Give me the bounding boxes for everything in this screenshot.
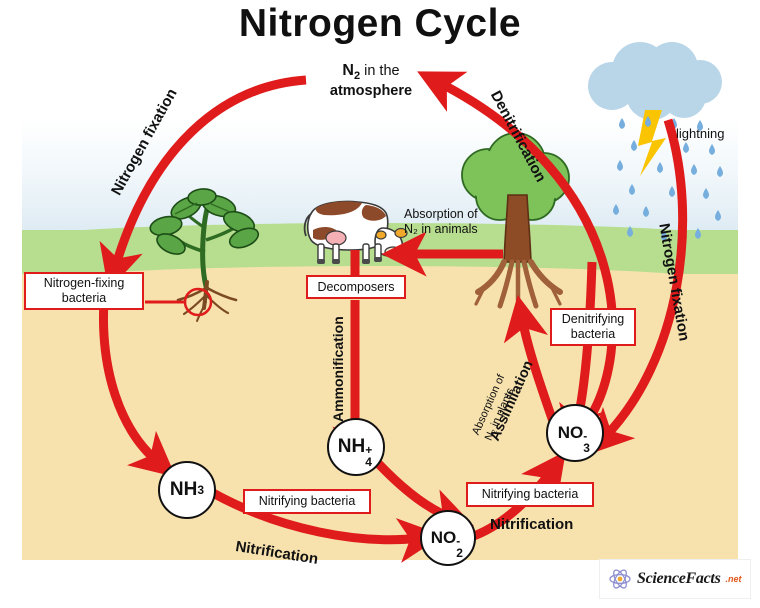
box-nitrifying-bacteria-left[interactable]: Nitrifying bacteria <box>243 489 371 514</box>
atom-icon <box>608 567 632 591</box>
absorption-animals-line1: Absorption of <box>404 207 478 221</box>
molecule-no3[interactable]: NO - 3 <box>546 404 604 462</box>
logo-name: ScienceFacts <box>637 570 721 588</box>
nh3-base: NH <box>170 479 197 501</box>
box-denitrifying-bacteria[interactable]: Denitrifying bacteria <box>550 308 636 346</box>
arrow-fixing-to-nh3 <box>103 300 158 462</box>
molecule-nh4[interactable]: NH + 4 <box>327 418 385 476</box>
box-nitrogen-fixing-bacteria[interactable]: Nitrogen-fixing bacteria <box>24 272 144 310</box>
box-decomposers[interactable]: Decomposers <box>306 275 406 299</box>
nh4-base: NH <box>338 436 365 458</box>
no3-sub: 3 <box>583 441 590 455</box>
box-nitrifying-bacteria-right[interactable]: Nitrifying bacteria <box>466 482 594 507</box>
no2-sub: 2 <box>456 546 463 560</box>
sciencefacts-logo[interactable]: ScienceFacts.net <box>600 560 750 598</box>
label-ammonification: Ammonification <box>330 316 346 422</box>
no2-base: NO <box>431 528 457 548</box>
absorption-animals-line2: N₂ in animals <box>404 222 478 236</box>
atmosphere-line2: atmosphere <box>330 83 412 99</box>
logo-tld: .net <box>726 574 742 584</box>
label-absorption-animals: Absorption of N₂ in animals <box>404 207 478 237</box>
atmosphere-label: N2 in the atmosphere <box>306 62 436 99</box>
no3-base: NO <box>558 423 584 443</box>
atmosphere-rest: in the <box>364 63 399 79</box>
nh4-sub: 4 <box>365 455 372 469</box>
label-nitrification-right: Nitrification <box>490 516 573 533</box>
nh3-sub: 3 <box>197 483 204 497</box>
arrow-nh4-to-no2 <box>375 460 452 518</box>
molecule-no2[interactable]: NO - 2 <box>420 510 476 566</box>
label-lightning: lightning <box>676 126 724 141</box>
arrow-nitrogen-fixation-left <box>115 80 306 268</box>
nitrogen-cycle-diagram: Nitrogen Cycle <box>0 0 760 608</box>
molecule-nh3[interactable]: NH3 <box>158 461 216 519</box>
atmosphere-molecule: N2 <box>342 62 360 79</box>
